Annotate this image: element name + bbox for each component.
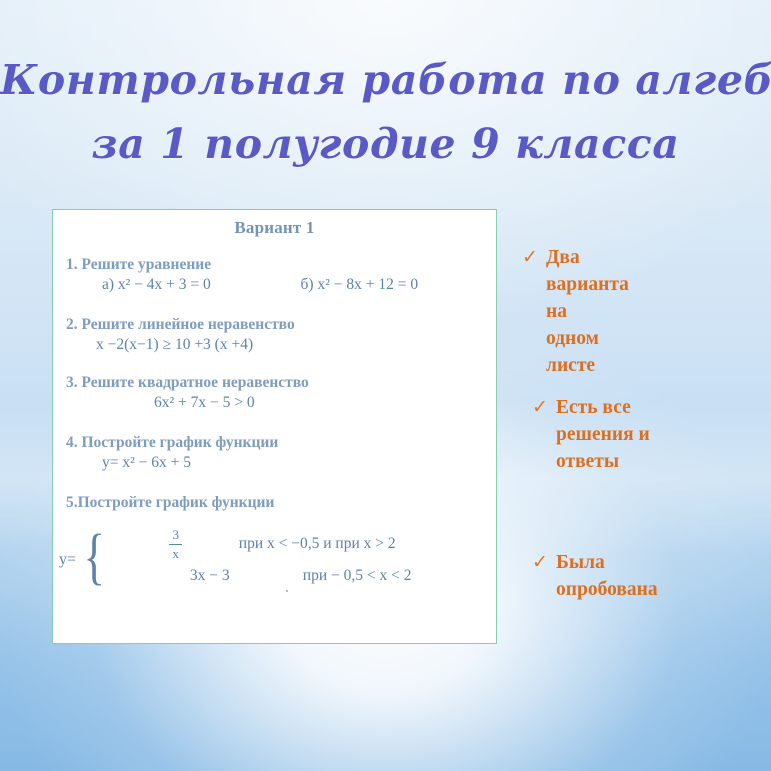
piecewise-row-1-condition: при x < −0,5 и при x > 2 [239,535,396,553]
stray-dot-artifact [286,590,288,592]
bullet-line-1-word-1: Два [546,244,766,271]
piecewise-row-1-expression: 3 x [113,527,239,561]
bullet-line-1: Была [556,549,766,576]
piecewise-lhs: y= [59,551,79,569]
bullet-line-3: листе [546,352,766,379]
bullet-item-solutions-answers-text: Есть все решения и ответы [556,394,766,475]
bullet-line-2-word-2: одном [546,325,766,352]
task-1-title: 1. Решите уравнение [66,255,496,274]
bullet-line-1-word-2: варианта [546,271,766,298]
piecewise-row-2-condition: при − 0,5 < x < 2 [273,567,412,585]
task-2-title: 2. Решите линейное неравенство [66,315,496,334]
fraction-bar [169,544,182,545]
variant-card: Вариант 1 1. Решите уравнение а) x² − 4x… [52,209,497,644]
task-5-title: 5.Постройте график функции [66,493,496,512]
fraction-denominator: x [173,546,180,561]
check-icon: ✓ [522,244,546,271]
fraction-three-over-x: 3 x [169,527,182,561]
slide-canvas: Контрольная работа по алгебре за 1 полуг… [0,0,771,771]
bullet-item-two-variants-text: Два варианта на одном листе [546,244,766,379]
bullet-line-1: Есть все [556,394,766,421]
slide-title: Контрольная работа по алгебре за 1 полуг… [0,48,771,176]
task-3-formula: 6x² + 7x − 5 > 0 [66,392,496,413]
piecewise-rows: 3 x при x < −0,5 и при x > 2 3x − 3 при … [111,528,412,592]
task-3-title: 3. Решите квадратное неравенство [66,373,496,392]
piecewise-row-2-expression: 3x − 3 [113,567,273,585]
bullet-line-2-word-1: на [546,298,766,325]
bullet-line-2: на одном [546,298,766,352]
task-3: 3. Решите квадратное неравенство 6x² + 7… [53,373,496,413]
bullet-item-two-variants: ✓ Два варианта на одном листе [522,244,766,379]
check-icon: ✓ [532,549,556,576]
piecewise-row-1: 3 x при x < −0,5 и при x > 2 [113,528,412,560]
bullet-line-2: решения и [556,421,766,448]
task-1-formula-b: x² − 8x + 12 = 0 [317,276,418,293]
slide-title-line-2: за 1 полугодие 9 класса [0,112,771,176]
task-4: 4. Постройте график функции y= x² − 6x +… [53,433,496,473]
check-icon: ✓ [532,394,556,421]
piecewise-brace: { [83,533,106,587]
task-1-formula-a: x² − 4x + 3 = 0 [118,276,211,293]
bullet-line-2: опробована [556,576,766,603]
variant-heading: Вариант 1 [53,218,496,238]
bullet-item-solutions-answers: ✓ Есть все решения и ответы [532,394,766,475]
slide-title-line-1: Контрольная работа по алгебре [0,48,771,112]
task-2-formula: x −2(x−1) ≥ 10 +3 (x +4) [66,334,496,355]
task-4-formula: y= x² − 6x + 5 [66,452,496,473]
bullet-line-1: Два варианта [546,244,766,298]
task-1: 1. Решите уравнение а) x² − 4x + 3 = 0 б… [53,255,496,295]
task-2: 2. Решите линейное неравенство x −2(x−1)… [53,315,496,355]
task-1-formula-a-label: а) [102,276,114,293]
task-5-piecewise-function: y= { 3 x при x < −0,5 и при x > 2 3x − 3 [53,528,496,592]
bullet-item-tested: ✓ Была опробована [532,549,766,603]
fraction-numerator: 3 [173,527,180,542]
task-5: 5.Постройте график функции [53,493,496,512]
bullet-item-tested-text: Была опробована [556,549,766,603]
bullet-line-3: ответы [556,448,766,475]
task-1-formulas: а) x² − 4x + 3 = 0 б) x² − 8x + 12 = 0 [66,274,496,295]
task-1-formula-b-label: б) [301,276,314,293]
piecewise-row-2: 3x − 3 при − 0,5 < x < 2 [113,560,412,592]
task-4-title: 4. Постройте график функции [66,433,496,452]
